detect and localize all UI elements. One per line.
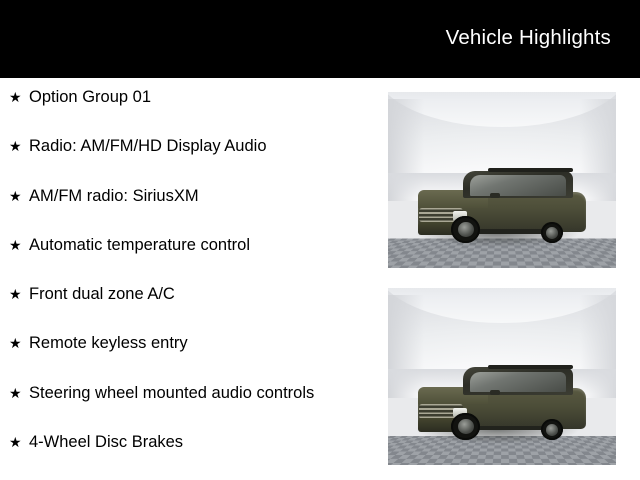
header-bar: Vehicle Highlights bbox=[0, 0, 640, 78]
suv-windshield bbox=[470, 372, 566, 392]
vehicle-highlights-list: ★ Option Group 01 ★ Radio: AM/FM/HD Disp… bbox=[0, 86, 386, 480]
highlight-label: Front dual zone A/C bbox=[29, 283, 175, 305]
suv-side-mirror bbox=[490, 390, 500, 395]
suv-illustration bbox=[418, 359, 587, 440]
star-bullet-icon: ★ bbox=[9, 332, 29, 354]
vehicle-photo-front-three-quarter-alt[interactable] bbox=[388, 288, 616, 465]
list-item: ★ Steering wheel mounted audio controls bbox=[0, 382, 386, 431]
highlight-label: Remote keyless entry bbox=[29, 332, 188, 354]
suv-illustration bbox=[418, 162, 587, 243]
suv-front-wheel bbox=[451, 413, 480, 441]
list-item: ★ 4-Wheel Disc Brakes bbox=[0, 431, 386, 480]
highlight-label: Automatic temperature control bbox=[29, 234, 250, 256]
highlight-label: Steering wheel mounted audio controls bbox=[29, 382, 314, 404]
suv-windshield bbox=[470, 175, 566, 195]
list-item: ★ AM/FM radio: SiriusXM bbox=[0, 185, 386, 234]
suv-rear-wheel bbox=[541, 419, 563, 440]
list-item: ★ Remote keyless entry bbox=[0, 332, 386, 381]
suv-roof-rail bbox=[488, 365, 572, 369]
star-bullet-icon: ★ bbox=[9, 135, 29, 157]
list-item: ★ Automatic temperature control bbox=[0, 234, 386, 283]
vehicle-photo-front-three-quarter[interactable] bbox=[388, 92, 616, 268]
star-bullet-icon: ★ bbox=[9, 283, 29, 305]
star-bullet-icon: ★ bbox=[9, 382, 29, 404]
photo-scene bbox=[388, 288, 616, 465]
star-bullet-icon: ★ bbox=[9, 234, 29, 256]
suv-roof-rail bbox=[488, 168, 572, 172]
page-title: Vehicle Highlights bbox=[446, 28, 611, 49]
highlight-label: 4-Wheel Disc Brakes bbox=[29, 431, 183, 453]
star-bullet-icon: ★ bbox=[9, 185, 29, 207]
list-item: ★ Option Group 01 bbox=[0, 86, 386, 135]
list-item: ★ Front dual zone A/C bbox=[0, 283, 386, 332]
highlight-label: Radio: AM/FM/HD Display Audio bbox=[29, 135, 267, 157]
star-bullet-icon: ★ bbox=[9, 431, 29, 453]
highlight-label: AM/FM radio: SiriusXM bbox=[29, 185, 199, 207]
suv-side-mirror bbox=[490, 193, 500, 198]
star-bullet-icon: ★ bbox=[9, 86, 29, 108]
highlight-label: Option Group 01 bbox=[29, 86, 151, 108]
photo-scene bbox=[388, 92, 616, 268]
suv-rear-wheel bbox=[541, 222, 563, 243]
list-item: ★ Radio: AM/FM/HD Display Audio bbox=[0, 135, 386, 184]
suv-front-wheel bbox=[451, 216, 480, 244]
